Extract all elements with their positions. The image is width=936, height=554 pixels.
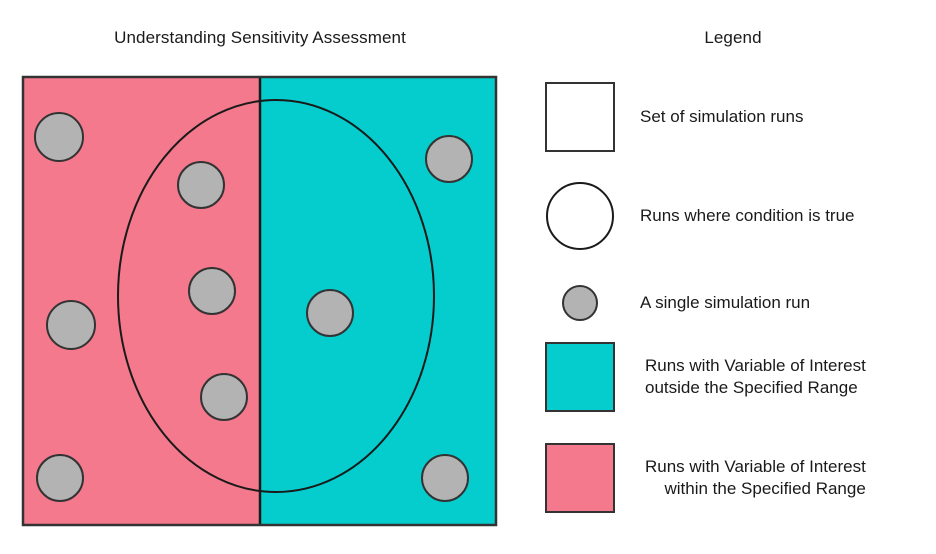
sensitivity-assessment-diagram <box>0 0 520 554</box>
legend-label-within-range: Runs with Variable of Interest within th… <box>645 456 866 500</box>
simulation-run-dot-7 <box>201 374 247 420</box>
legend-swatch-single-run <box>540 285 620 321</box>
teal-square-icon <box>545 342 615 412</box>
gray-dot-icon <box>562 285 598 321</box>
legend-item-outside-range: Runs with Variable of Interest outside t… <box>540 342 866 412</box>
legend-label-single-run: A single simulation run <box>640 292 810 314</box>
simulation-run-dot-3 <box>189 268 235 314</box>
diagram-page: Understanding Sensitivity Assessment Leg… <box>0 0 936 554</box>
simulation-run-dot-6 <box>47 301 95 349</box>
simulation-run-dot-9 <box>422 455 468 501</box>
legend-item-within-range: Runs with Variable of Interest within th… <box>540 443 866 513</box>
legend-swatch-condition-true <box>540 182 620 250</box>
simulation-run-dot-8 <box>37 455 83 501</box>
legend-item-set-of-runs: Set of simulation runs <box>540 82 803 152</box>
legend-swatch-outside-range <box>540 342 625 412</box>
legend-label-set-of-runs: Set of simulation runs <box>640 106 803 128</box>
white-square-icon <box>545 82 615 152</box>
simulation-run-dot-2 <box>178 162 224 208</box>
simulation-run-dot-5 <box>426 136 472 182</box>
legend-label-condition-true: Runs where condition is true <box>640 205 855 227</box>
legend-label-outside-range: Runs with Variable of Interest outside t… <box>645 355 866 399</box>
legend-item-single-run: A single simulation run <box>540 285 810 321</box>
legend-swatch-within-range <box>540 443 625 513</box>
simulation-run-dot-4 <box>307 290 353 336</box>
legend-title: Legend <box>530 28 936 48</box>
outline-circle-icon <box>546 182 614 250</box>
pink-square-icon <box>545 443 615 513</box>
legend-swatch-set-of-runs <box>540 82 620 152</box>
legend-panel: Set of simulation runs Runs where condit… <box>540 70 936 550</box>
simulation-run-dot-1 <box>35 113 83 161</box>
legend-item-condition-true: Runs where condition is true <box>540 182 855 250</box>
